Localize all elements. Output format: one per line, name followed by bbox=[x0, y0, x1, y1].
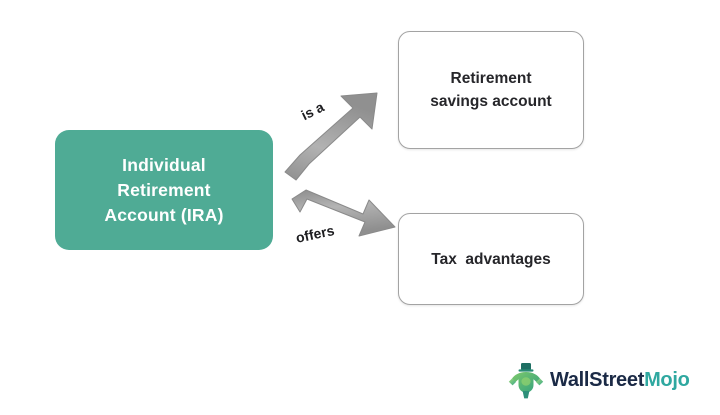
node-individual-retirement-account[interactable]: Individual Retirement Account (IRA) bbox=[55, 130, 273, 250]
node-ira-line-3: Account (IRA) bbox=[104, 203, 223, 228]
wallstreetmojo-bull-icon bbox=[508, 361, 544, 399]
diagram-canvas: Individual Retirement Account (IRA) Reti… bbox=[0, 0, 720, 415]
node-retirement-line-1: Retirement bbox=[451, 67, 532, 90]
logo-text-primary: WallStreet bbox=[550, 369, 644, 391]
logo-text-secondary: Mojo bbox=[644, 369, 689, 391]
node-ira-line-1: Individual bbox=[122, 153, 206, 178]
wallstreetmojo-wordmark: WallStreetMojo bbox=[550, 370, 690, 390]
node-retirement-savings-account[interactable]: Retirement savings account bbox=[398, 31, 584, 149]
arrow-is-a bbox=[285, 93, 377, 180]
node-tax-advantages[interactable]: Tax advantages bbox=[398, 213, 584, 305]
node-tax-line-1: Tax advantages bbox=[431, 248, 550, 271]
node-ira-line-2: Retirement bbox=[117, 178, 210, 203]
edge-label-offers: offers bbox=[294, 222, 335, 246]
wallstreetmojo-logo: WallStreetMojo bbox=[508, 361, 690, 399]
node-retirement-line-2: savings account bbox=[430, 90, 551, 113]
edge-label-is-a: is a bbox=[298, 99, 326, 124]
